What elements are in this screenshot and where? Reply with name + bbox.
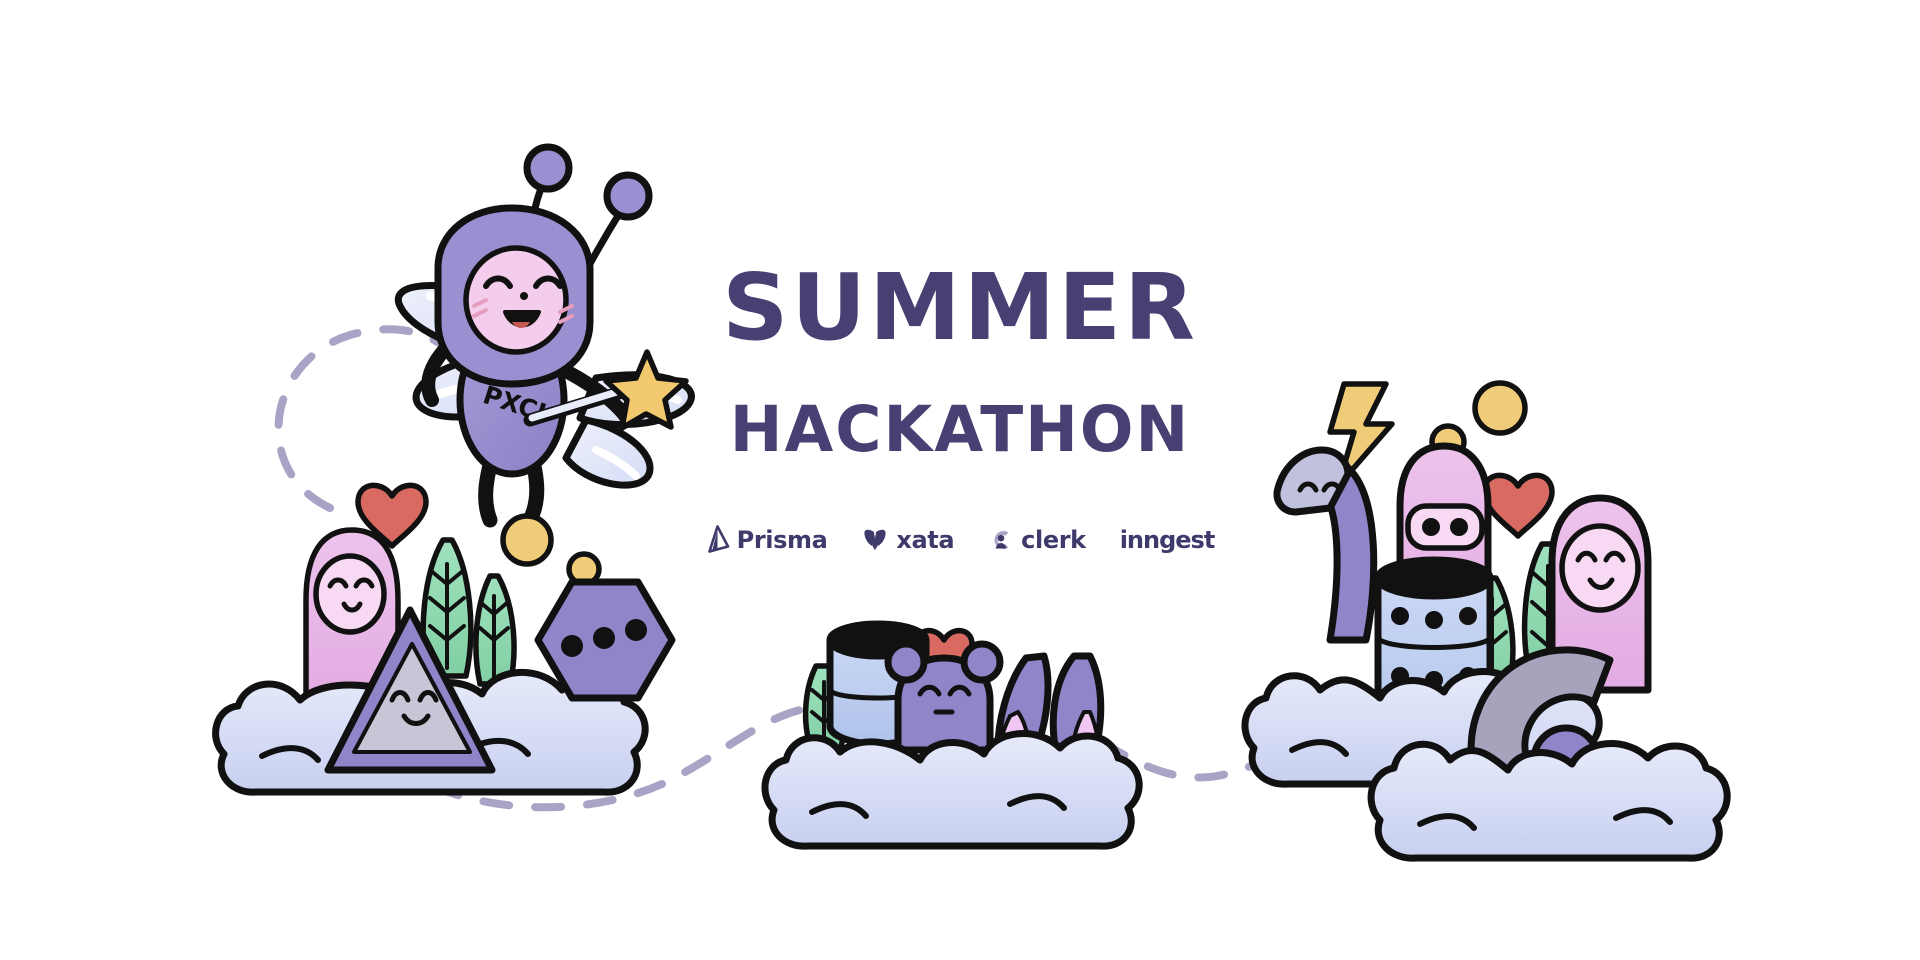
sponsor-prisma-label: Prisma <box>737 528 828 552</box>
banner-illustration: .ol { stroke:#111111; stroke-width:7; st… <box>0 0 1920 960</box>
fairy-mascot: PXCI <box>398 147 691 520</box>
prisma-logo-icon <box>706 525 730 555</box>
clerk-inngest-cluster <box>1245 383 1727 858</box>
sponsor-inngest[interactable]: inngest <box>1120 528 1215 552</box>
sponsor-inngest-label: inngest <box>1120 528 1215 552</box>
sponsor-prisma[interactable]: Prisma <box>706 525 828 555</box>
cloud-group-right-front <box>1371 744 1727 859</box>
clerk-logo-icon <box>988 527 1014 553</box>
hexagon-dots-block <box>538 582 672 698</box>
yellow-dot-large <box>503 516 551 564</box>
arch-character <box>1277 450 1374 640</box>
sponsor-logo-row: Prisma xata clerk inngest <box>680 525 1240 555</box>
cloud-group-center <box>765 734 1139 847</box>
prisma-cluster <box>216 485 672 792</box>
hackathon-banner: .ol { stroke:#111111; stroke-width:7; st… <box>0 0 1920 960</box>
xata-cluster <box>765 624 1139 846</box>
sponsor-xata[interactable]: xata <box>861 526 954 554</box>
yellow-dot-large <box>1475 383 1525 433</box>
heart-icon <box>1484 475 1552 536</box>
xata-logo-icon <box>861 526 889 554</box>
sponsor-clerk[interactable]: clerk <box>988 527 1086 553</box>
sponsor-clerk-label: clerk <box>1021 528 1086 552</box>
bear-cube-character <box>888 644 1000 750</box>
mascot-face <box>466 248 566 352</box>
sponsor-xata-label: xata <box>896 528 954 552</box>
